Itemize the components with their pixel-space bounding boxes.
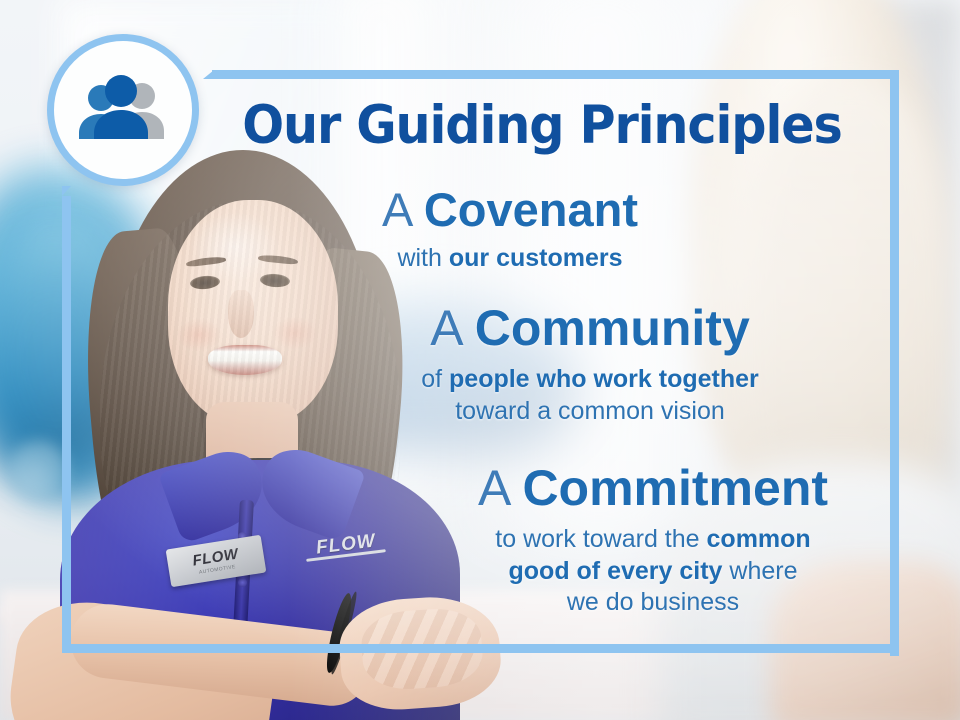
covenant-sub-prefix: with: [397, 244, 448, 272]
poster-canvas: FLOW AUTOMOTIVE FLOW: [0, 0, 960, 720]
poster-text-content: Our Guiding Principles A Covenant with o…: [0, 0, 960, 720]
commitment-sub-line-3: we do business: [420, 587, 886, 619]
commitment-sub-prefix: to work toward the: [495, 525, 706, 553]
community-sub-line-1: of people who work together: [355, 364, 825, 396]
principle-community-subtext: of people who work together toward a com…: [355, 364, 825, 427]
principle-covenant-subtext: with our customers: [300, 243, 720, 275]
commitment-sub-bold-1: common: [707, 525, 811, 553]
community-sub-bold: people who work together: [449, 365, 759, 393]
commitment-sub-bold-2: good of every city: [509, 557, 723, 585]
commitment-article: A: [478, 460, 509, 516]
commitment-sub-line-1: to work toward the common: [420, 524, 886, 556]
covenant-sub-bold: our customers: [449, 244, 623, 272]
page-title: Our Guiding Principles: [235, 94, 849, 158]
covenant-keyword: Covenant: [424, 183, 638, 236]
principle-commitment: A Commitment to work toward the common g…: [420, 462, 886, 619]
community-sub-line-2: toward a common vision: [355, 396, 825, 428]
community-sub-prefix: of: [421, 365, 449, 393]
principle-commitment-heading: A Commitment: [420, 462, 886, 514]
principle-covenant: A Covenant with our customers: [300, 186, 720, 274]
covenant-article: A: [382, 183, 411, 236]
principle-covenant-heading: A Covenant: [300, 186, 720, 235]
commitment-sub-line-2: good of every city where: [420, 556, 886, 588]
community-keyword: Community: [475, 300, 750, 356]
principle-community-heading: A Community: [355, 302, 825, 354]
principle-community: A Community of people who work together …: [355, 302, 825, 427]
community-article: A: [430, 300, 461, 356]
commitment-keyword: Commitment: [522, 460, 828, 516]
commitment-sub-suffix: where: [722, 557, 797, 585]
principle-commitment-subtext: to work toward the common good of every …: [420, 524, 886, 619]
